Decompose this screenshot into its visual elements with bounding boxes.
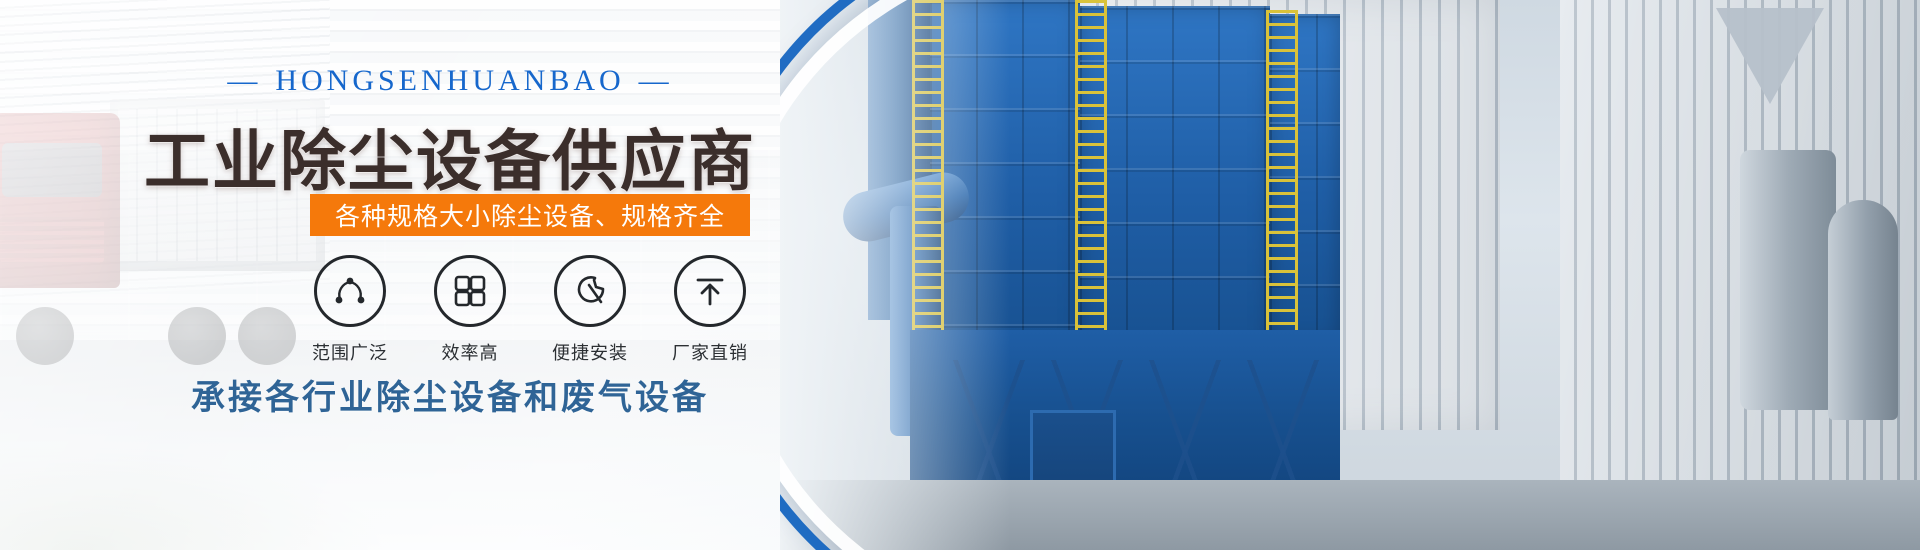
- feature-label: 厂家直销: [660, 339, 760, 365]
- yellow-ladder: [1075, 0, 1107, 380]
- silo-tank-secondary: [1828, 200, 1898, 420]
- eyebrow-dash-right: —: [639, 64, 673, 98]
- hero-tagline: 承接各行业除尘设备和废气设备: [0, 370, 900, 419]
- subtitle-text: 各种规格大小除尘设备、规格齐全: [335, 197, 725, 233]
- brand-eyebrow: —HONGSENHUANBAO—: [0, 64, 900, 98]
- feature-icon-row: 范围广泛 效率高: [300, 255, 760, 365]
- feature-item-efficiency[interactable]: 效率高: [420, 255, 520, 365]
- feature-item-direct-sales[interactable]: 厂家直销: [660, 255, 760, 365]
- feature-label: 效率高: [420, 339, 520, 365]
- arrow-up-to-line-icon: [674, 255, 746, 327]
- eyebrow-dash-left: —: [227, 64, 261, 98]
- hero-banner: —HONGSENHUANBAO— 工业除尘设备供应商 各种规格大小除尘设备、规格…: [0, 0, 1920, 550]
- hopper-cone: [1716, 8, 1824, 104]
- feature-label: 便捷安装: [540, 339, 640, 365]
- wrench-icon: [554, 255, 626, 327]
- yellow-ladder: [1266, 10, 1298, 360]
- dust-collector-unit: [1080, 6, 1270, 356]
- page-title: 工业除尘设备供应商: [0, 108, 900, 204]
- feature-label: 范围广泛: [300, 339, 400, 365]
- eyebrow-text: HONGSENHUANBAO: [275, 64, 624, 97]
- right-background-photo: [780, 0, 1920, 550]
- feature-item-range[interactable]: 范围广泛: [300, 255, 400, 365]
- hero-text-content: —HONGSENHUANBAO— 工业除尘设备供应商 各种规格大小除尘设备、规格…: [0, 0, 900, 550]
- silo-tank: [1740, 150, 1836, 410]
- feature-item-installation[interactable]: 便捷安装: [540, 255, 640, 365]
- grid-squares-icon: [434, 255, 506, 327]
- subtitle-orange-bar: 各种规格大小除尘设备、规格齐全: [310, 194, 750, 236]
- network-nodes-icon: [314, 255, 386, 327]
